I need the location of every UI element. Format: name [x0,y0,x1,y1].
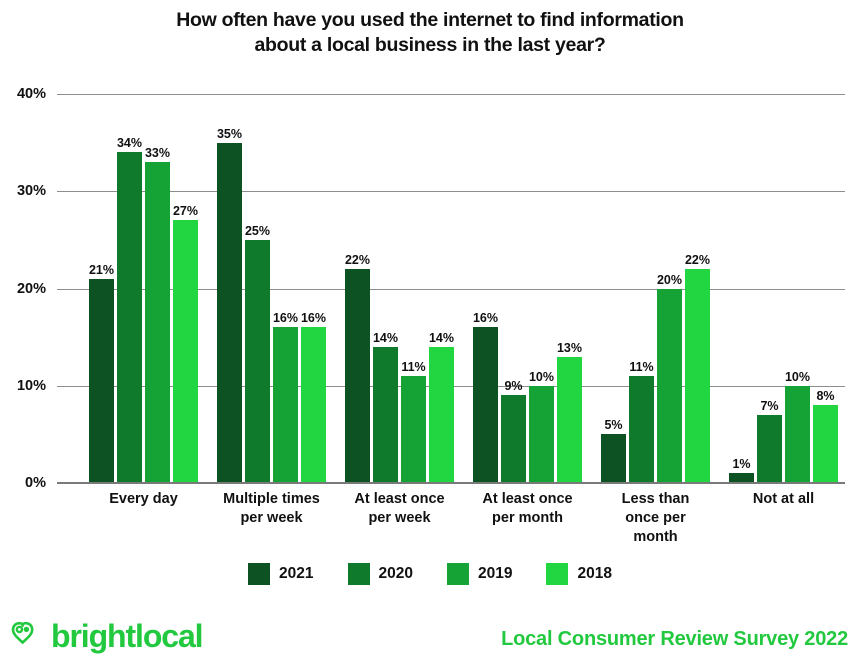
category-label-line: Less than [586,490,726,509]
bar-2020-at-least-once-per-month[interactable]: 9% [501,395,526,483]
bar-2021-at-least-once-per-week[interactable]: 22% [345,269,370,483]
bar-value-label: 8% [816,389,834,403]
bar-value-label: 27% [173,204,198,218]
legend-item-2018[interactable]: 2018 [546,563,611,585]
category-label-line: month [586,528,726,547]
bar-value-label: 20% [657,273,682,287]
chart-title-line-2: about a local business in the last year? [0,33,860,58]
legend-label: 2018 [577,565,611,583]
bar-value-label: 5% [604,418,622,432]
legend-swatch [348,563,370,585]
bar-rect [629,376,654,483]
heart-pin-icon [10,616,44,655]
bar-value-label: 16% [273,311,298,325]
x-axis-category-label: At least onceper week [330,490,470,528]
bar-rect [89,279,114,483]
legend-item-2020[interactable]: 2020 [348,563,413,585]
bar-rect [345,269,370,483]
bar-2019-less-than-once-per-month[interactable]: 20% [657,289,682,484]
bar-rect [813,405,838,483]
bar-rect [117,152,142,483]
bar-value-label: 22% [345,253,370,267]
category-label-line: per month [458,509,598,528]
bar-2020-less-than-once-per-month[interactable]: 11% [629,376,654,483]
chart-title: How often have you used the internet to … [0,8,860,58]
bar-group: 35%25%16%16% [217,94,326,483]
category-label-line: once per [586,509,726,528]
bar-value-label: 10% [529,370,554,384]
bar-rect [685,269,710,483]
bar-rect [473,327,498,483]
bar-rect [145,162,170,483]
category-label-line: per week [330,509,470,528]
legend-label: 2021 [279,565,313,583]
bar-2018-multiple-times-per-week[interactable]: 16% [301,327,326,483]
bar-value-label: 16% [473,311,498,325]
x-axis-category-labels: Every dayMultiple timesper weekAt least … [57,490,845,556]
brand-name: brightlocal [51,619,202,653]
x-axis-line [57,482,845,484]
bar-2018-at-least-once-per-month[interactable]: 13% [557,357,582,483]
bar-rect [301,327,326,483]
brightlocal-logo: brightlocal [10,616,202,655]
bar-value-label: 14% [429,331,454,345]
legend-label: 2020 [379,565,413,583]
bar-value-label: 9% [504,379,522,393]
bar-value-label: 11% [401,360,425,374]
category-label-line: per week [202,509,342,528]
bar-value-label: 7% [760,399,778,413]
x-axis-category-label: Not at all [714,490,854,509]
x-axis-category-label: At least onceper month [458,490,598,528]
legend-label: 2019 [478,565,512,583]
bar-rect [601,434,626,483]
x-axis-category-label: Less thanonce permonth [586,490,726,547]
bar-2018-at-least-once-per-week[interactable]: 14% [429,347,454,483]
chart-legend: 2021202020192018 [0,563,860,585]
bar-value-label: 13% [557,341,582,355]
bar-2019-not-at-all[interactable]: 10% [785,386,810,483]
category-label-line: Not at all [714,490,854,509]
y-tick-label: 40% [17,86,46,102]
bar-2019-at-least-once-per-month[interactable]: 10% [529,386,554,483]
bar-rect [373,347,398,483]
bar-2020-at-least-once-per-week[interactable]: 14% [373,347,398,483]
bar-group: 1%7%10%8% [729,94,838,483]
bar-2020-multiple-times-per-week[interactable]: 25% [245,240,270,483]
y-tick-label: 30% [17,183,46,199]
bar-2020-every-day[interactable]: 34% [117,152,142,483]
bar-value-label: 1% [732,457,750,471]
bar-value-label: 10% [785,370,810,384]
bar-rect [401,376,426,483]
bar-value-label: 35% [217,127,242,141]
bar-2018-not-at-all[interactable]: 8% [813,405,838,483]
category-label-line: Multiple times [202,490,342,509]
legend-swatch [248,563,270,585]
bar-value-label: 14% [373,331,398,345]
x-axis-category-label: Multiple timesper week [202,490,342,528]
bar-rect [657,289,682,484]
bar-group: 21%34%33%27% [89,94,198,483]
bar-rect [273,327,298,483]
plot-area: 0%10%20%30%40% 21%34%33%27%35%25%16%16%2… [57,94,845,483]
x-axis-category-label: Every day [74,490,214,509]
y-tick-label: 0% [25,475,46,491]
bar-group: 16%9%10%13% [473,94,582,483]
category-label-line: At least once [458,490,598,509]
y-tick-label: 10% [17,378,46,394]
bar-2021-less-than-once-per-month[interactable]: 5% [601,434,626,483]
legend-swatch [546,563,568,585]
bar-rect [557,357,582,483]
bar-value-label: 33% [145,146,170,160]
bar-2018-less-than-once-per-month[interactable]: 22% [685,269,710,483]
bar-rect [429,347,454,483]
footer: brightlocal Local Consumer Review Survey… [0,608,860,670]
bar-value-label: 25% [245,224,270,238]
bar-2019-every-day[interactable]: 33% [145,162,170,483]
bar-2019-at-least-once-per-week[interactable]: 11% [401,376,426,483]
survey-caption: Local Consumer Review Survey 2022 [501,628,848,651]
bar-value-label: 21% [89,263,114,277]
bar-value-label: 34% [117,136,142,150]
chart-title-line-1: How often have you used the internet to … [0,8,860,33]
bar-rect [245,240,270,483]
category-label-line: At least once [330,490,470,509]
bar-value-label: 22% [685,253,710,267]
bar-2020-not-at-all[interactable]: 7% [757,415,782,483]
y-tick-label: 20% [17,281,46,297]
bars-layer: 21%34%33%27%35%25%16%16%22%14%11%14%16%9… [57,94,845,483]
bar-value-label: 11% [629,360,653,374]
bar-rect [785,386,810,483]
bar-rect [529,386,554,483]
bar-2021-multiple-times-per-week[interactable]: 35% [217,143,242,483]
bar-rect [173,220,198,483]
bar-2021-at-least-once-per-month[interactable]: 16% [473,327,498,483]
bar-2021-every-day[interactable]: 21% [89,279,114,483]
bar-rect [757,415,782,483]
category-label-line: Every day [74,490,214,509]
bar-2018-every-day[interactable]: 27% [173,220,198,483]
legend-item-2019[interactable]: 2019 [447,563,512,585]
bar-rect [217,143,242,483]
bar-2019-multiple-times-per-week[interactable]: 16% [273,327,298,483]
bar-rect [501,395,526,483]
legend-swatch [447,563,469,585]
bar-value-label: 16% [301,311,326,325]
bar-group: 22%14%11%14% [345,94,454,483]
legend-item-2021[interactable]: 2021 [248,563,313,585]
bar-group: 5%11%20%22% [601,94,710,483]
